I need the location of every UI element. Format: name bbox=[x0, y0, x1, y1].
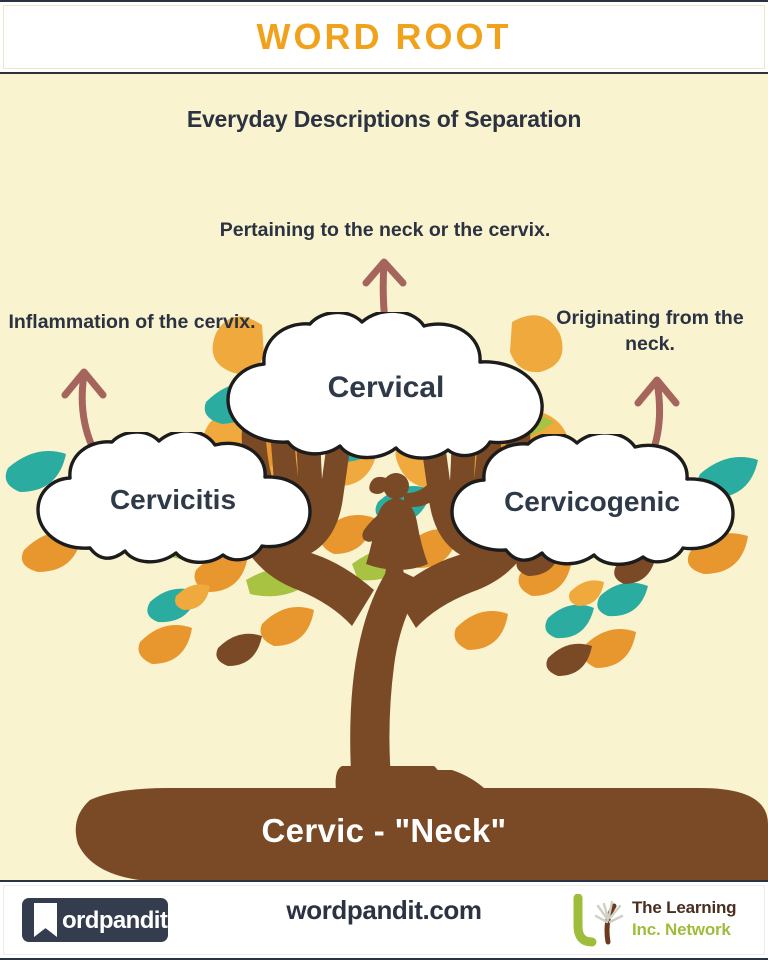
subtitle: Everyday Descriptions of Separation bbox=[0, 106, 768, 133]
footer-url: wordpandit.com bbox=[0, 895, 768, 926]
infographic-canvas: WORD ROOT Everyday Descriptions of Separ… bbox=[0, 0, 768, 960]
header-band: WORD ROOT bbox=[0, 0, 768, 74]
word-cloud-cervicitis[interactable]: Cervicitis bbox=[28, 432, 318, 566]
description-right: Originating from the neck. bbox=[534, 306, 766, 357]
word-cloud-cervicogenic[interactable]: Cervicogenic bbox=[442, 434, 742, 568]
page-title: WORD ROOT bbox=[257, 19, 512, 55]
root-label: Cervic - "Neck" bbox=[0, 812, 768, 850]
description-top: Pertaining to the neck or the cervix. bbox=[150, 218, 620, 244]
